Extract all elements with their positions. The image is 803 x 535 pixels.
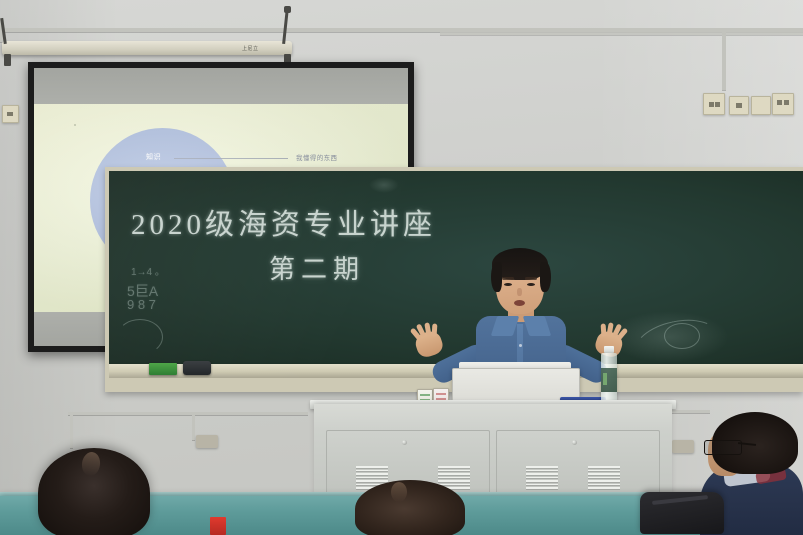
shirt-button bbox=[519, 344, 522, 347]
box-stripe bbox=[420, 394, 430, 396]
bottle-label bbox=[601, 368, 617, 392]
chalk-smudge-top bbox=[369, 177, 399, 193]
label-accent bbox=[603, 373, 607, 385]
finger bbox=[432, 323, 438, 336]
slide-dust-speck bbox=[74, 124, 76, 126]
blackboard-faint-mark-2: 5巨A bbox=[127, 281, 158, 301]
black-bag-on-desk[interactable] bbox=[640, 492, 724, 534]
wall-plate-network-2[interactable] bbox=[729, 96, 749, 115]
roller-bracket-left bbox=[4, 54, 11, 66]
speaker-hair-side-left bbox=[491, 262, 502, 292]
bag-strap bbox=[652, 495, 708, 505]
podium-vent-right-a bbox=[526, 466, 558, 491]
eyeglasses-icon bbox=[704, 440, 742, 455]
ceiling-conduit-lower bbox=[440, 32, 803, 35]
podium-lock-left[interactable] bbox=[402, 440, 407, 445]
wall-junction-box-right bbox=[672, 440, 694, 453]
wall-plate-blank bbox=[751, 96, 771, 115]
network-port-icon bbox=[709, 102, 714, 107]
blackboard-headline: 2020级海资专业讲座 bbox=[131, 201, 436, 243]
speaker-eyebrow-left bbox=[502, 277, 514, 280]
network-port-icon bbox=[715, 102, 720, 107]
wall-junction-box-left bbox=[196, 435, 218, 448]
chalk-box-on-ledge[interactable] bbox=[149, 363, 177, 375]
box-stripe bbox=[436, 393, 446, 395]
blackboard-subline: 第二期 bbox=[269, 249, 365, 286]
blackboard-faint-mark-3: 9 8 7 bbox=[127, 297, 156, 312]
network-port-icon bbox=[777, 100, 782, 105]
blackboard-faint-mark-1: 1→4 。 bbox=[131, 263, 165, 278]
audience-member-front-left bbox=[38, 448, 150, 535]
lower-wall-conduit-drop-a bbox=[70, 414, 73, 448]
speaker-eyebrow-right bbox=[525, 277, 537, 280]
chalk-arc-doodle-2 bbox=[664, 323, 700, 349]
roller-mount-tip bbox=[284, 6, 291, 13]
podium-vent-right-b bbox=[588, 466, 620, 491]
lower-wall-conduit bbox=[68, 412, 308, 415]
speaker-mouth bbox=[514, 300, 525, 306]
bottle-cap bbox=[604, 346, 614, 353]
podium-lock-right[interactable] bbox=[572, 440, 577, 445]
red-cup-on-desk[interactable] bbox=[210, 517, 226, 535]
roller-brand-label: 上尼立 bbox=[242, 45, 259, 52]
speaker-nose bbox=[517, 288, 522, 296]
lower-wall-conduit-drop-b bbox=[192, 414, 195, 440]
slide-leader-line-knowledge bbox=[174, 158, 288, 159]
hair-part bbox=[391, 482, 407, 502]
audience-member-front-center bbox=[355, 480, 465, 535]
chalk-smudge-right bbox=[609, 311, 729, 363]
screen-letterbox-top bbox=[34, 68, 408, 104]
hair bbox=[355, 480, 465, 535]
wall-plate-network-3[interactable] bbox=[772, 93, 794, 115]
wall-conduit-down-right bbox=[722, 32, 726, 90]
slide-desc-knowledge: 我懂得的东西 bbox=[296, 152, 337, 162]
wall-plate-left[interactable] bbox=[2, 105, 19, 123]
network-port-icon bbox=[7, 112, 13, 116]
speaker-eye-right bbox=[527, 283, 535, 286]
finger bbox=[601, 323, 607, 336]
podium-panel-right[interactable] bbox=[496, 430, 660, 498]
speaker-hair-side-right bbox=[540, 262, 551, 292]
network-port-icon bbox=[784, 100, 789, 105]
blackboard-eraser[interactable] bbox=[183, 361, 211, 375]
speaker-eye-left bbox=[504, 283, 512, 286]
projector-screen-roller[interactable]: 上尼立 bbox=[2, 41, 292, 55]
classroom-photo: 上尼立 知识 我懂得的东西 技能 我能操控与完成的事情 bbox=[0, 0, 803, 535]
wall-plate-network-1[interactable] bbox=[703, 93, 725, 115]
water-bottle[interactable] bbox=[600, 346, 618, 408]
chalk-arc-doodle bbox=[630, 313, 724, 376]
network-port-icon bbox=[736, 103, 742, 108]
chalk-circle-left bbox=[117, 319, 163, 355]
slide-label-knowledge: 知识 bbox=[146, 152, 161, 162]
